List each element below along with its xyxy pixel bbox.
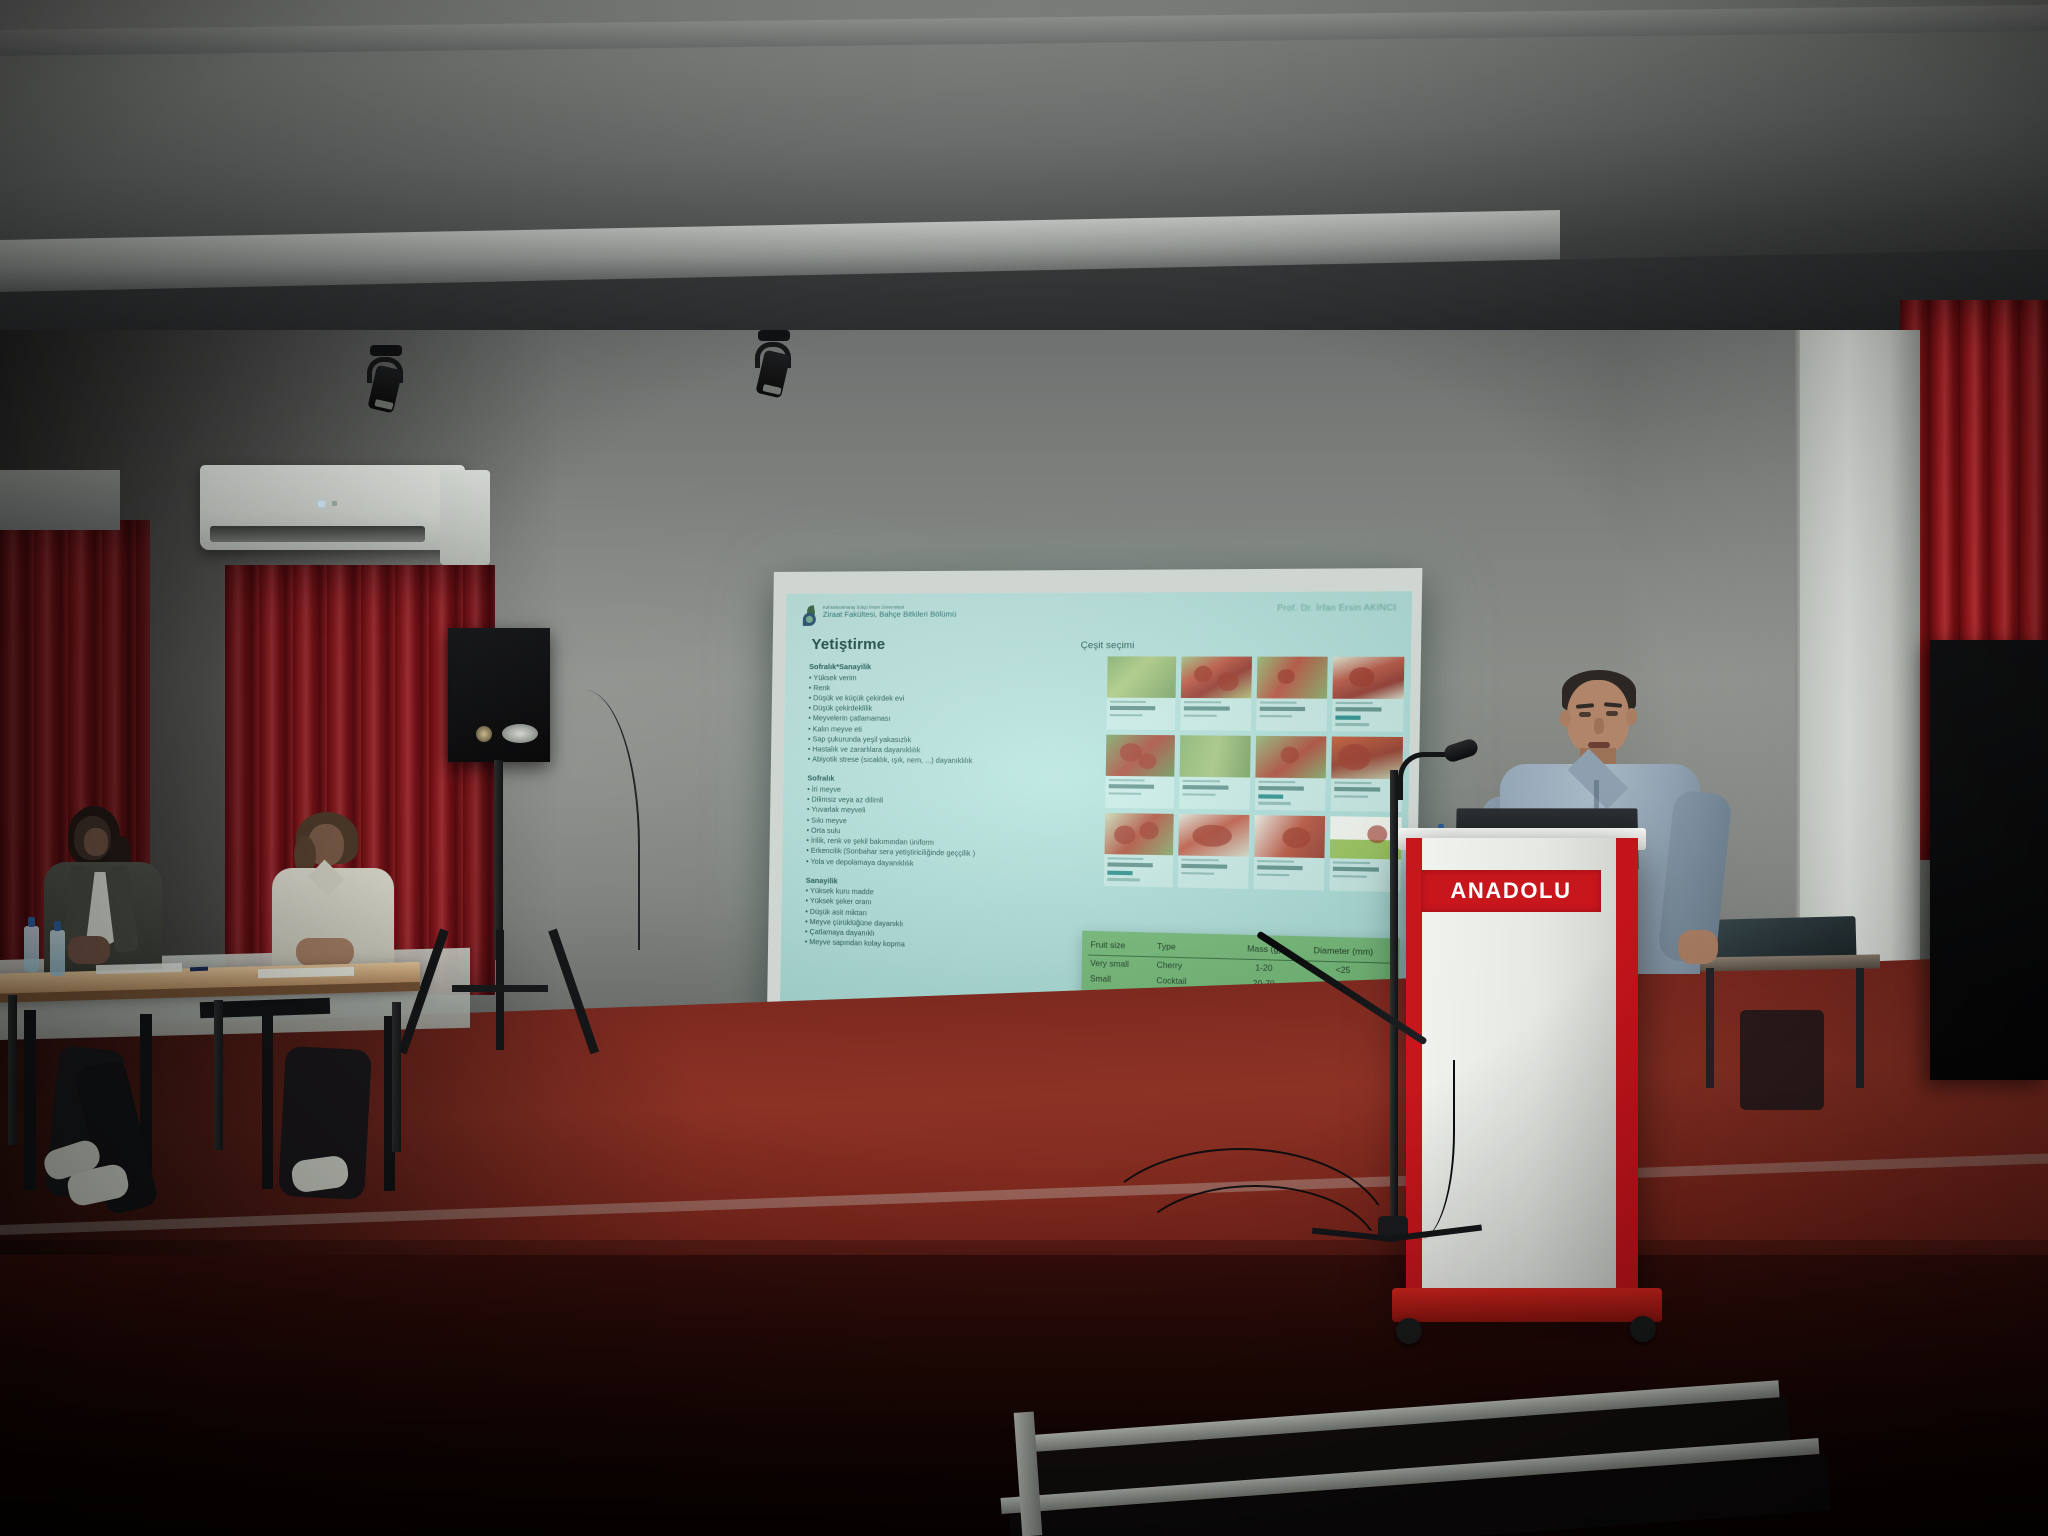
slide-bullet-column: Sofralık*Sanayilik Yüksek verim Renk Düş… bbox=[805, 662, 1101, 964]
bullet-group: Sanayilik Yüksek kuru madde Yüksek şeker… bbox=[805, 875, 1097, 955]
slide-brand-header: Kahramanmaraş Sütçü İmam Üniversitesi Zi… bbox=[803, 605, 957, 626]
speaker-horn bbox=[502, 724, 538, 743]
podium-base bbox=[1392, 1288, 1662, 1322]
ac-vent bbox=[210, 526, 425, 542]
slide-subtitle: Çeşit seçimi bbox=[1081, 640, 1135, 651]
podium-sign: ANADOLU bbox=[1421, 870, 1601, 912]
tomato-photo bbox=[1181, 657, 1251, 699]
bullet-group: Sofralık İri meyve Dilimsiz veya az dili… bbox=[806, 774, 1098, 872]
ac-side-duct bbox=[440, 470, 490, 565]
cell-mass: 1-20 bbox=[1234, 959, 1294, 977]
tomato-photo bbox=[1180, 735, 1250, 777]
pa-speaker-left bbox=[448, 628, 550, 762]
col-diameter: Diameter (mm) bbox=[1294, 941, 1393, 963]
hands bbox=[296, 938, 354, 966]
pen bbox=[190, 967, 208, 972]
podium-caster-wheel bbox=[1396, 1318, 1422, 1344]
table-leg bbox=[392, 1002, 401, 1152]
pa-speaker-right bbox=[1930, 640, 2048, 1080]
tomato-photo bbox=[1107, 656, 1176, 698]
catalog-card bbox=[1179, 735, 1250, 810]
university-logo-icon bbox=[803, 606, 818, 626]
water-bottle bbox=[24, 926, 39, 972]
window-frame-left bbox=[0, 470, 120, 530]
right-hand bbox=[1678, 930, 1718, 964]
air-conditioner-unit bbox=[200, 465, 465, 550]
stool bbox=[1740, 1010, 1824, 1110]
water-bottle bbox=[50, 930, 65, 976]
ear bbox=[1626, 708, 1637, 725]
catalog-card bbox=[1104, 813, 1174, 887]
catalog-card bbox=[1254, 736, 1326, 811]
podium-caster-wheel bbox=[1630, 1316, 1656, 1342]
table-leg bbox=[214, 1000, 223, 1150]
tomato-photo bbox=[1179, 814, 1249, 857]
catalog-card bbox=[1178, 814, 1249, 889]
tomato-variety-catalog-grid bbox=[1104, 656, 1404, 892]
catalog-card bbox=[1106, 656, 1176, 730]
slide-title: Yetiştirme bbox=[811, 636, 885, 653]
bullet-group-heading: Sofralık*Sanayilik bbox=[809, 662, 1100, 672]
side-table-leg bbox=[1706, 968, 1714, 1088]
ac-status-led bbox=[332, 501, 337, 506]
side-table-leg bbox=[1856, 968, 1864, 1088]
catalog-card bbox=[1105, 735, 1175, 809]
tomato-photo bbox=[1104, 813, 1173, 855]
col-fruit-size: Fruit size bbox=[1088, 936, 1155, 957]
spotlight-mount bbox=[370, 345, 402, 356]
hands bbox=[68, 936, 110, 964]
eye bbox=[1606, 711, 1618, 716]
speaker-tripod-brace bbox=[452, 985, 548, 992]
bullet-group: Sofralık*Sanayilik Yüksek verim Renk Düş… bbox=[808, 662, 1101, 768]
bullet-item: Abiyotik strese (sıcaklık, ışık, nem, ..… bbox=[808, 755, 1099, 768]
tomato-photo bbox=[1254, 815, 1325, 858]
catalog-card bbox=[1253, 815, 1325, 890]
catalog-card bbox=[1256, 657, 1328, 732]
face bbox=[84, 828, 108, 856]
tomato-photo bbox=[1255, 736, 1326, 779]
slide-presenter-name: Prof. Dr. İrfan Ersin AKINCI bbox=[1277, 602, 1396, 613]
cell-fruit-size: Very small bbox=[1088, 955, 1155, 973]
col-type: Type bbox=[1155, 938, 1235, 959]
eye bbox=[1579, 712, 1591, 717]
tomato-photo bbox=[1256, 657, 1327, 699]
catalog-card bbox=[1332, 657, 1405, 732]
presentation-hall-photo: Kahramanmaraş Sütçü İmam Üniversitesi Zi… bbox=[0, 0, 2048, 1536]
chair-leg bbox=[24, 1010, 36, 1190]
tomato-photo bbox=[1106, 735, 1175, 777]
podium-sign-text: ANADOLU bbox=[1450, 878, 1571, 904]
ac-power-led bbox=[318, 501, 325, 507]
ear bbox=[1560, 710, 1571, 727]
catalog-card bbox=[1181, 657, 1252, 731]
spotlight-mount bbox=[758, 330, 790, 341]
speaker-driver bbox=[476, 726, 492, 742]
nose bbox=[1594, 718, 1604, 734]
table-leg bbox=[8, 995, 17, 1145]
tomato-photo bbox=[1332, 657, 1404, 699]
podium-red-stripe bbox=[1616, 838, 1638, 1308]
chair-leg bbox=[262, 1014, 273, 1189]
slide-faculty-name: Ziraat Fakültesi, Bahçe Bitkileri Bölümü bbox=[823, 610, 957, 619]
